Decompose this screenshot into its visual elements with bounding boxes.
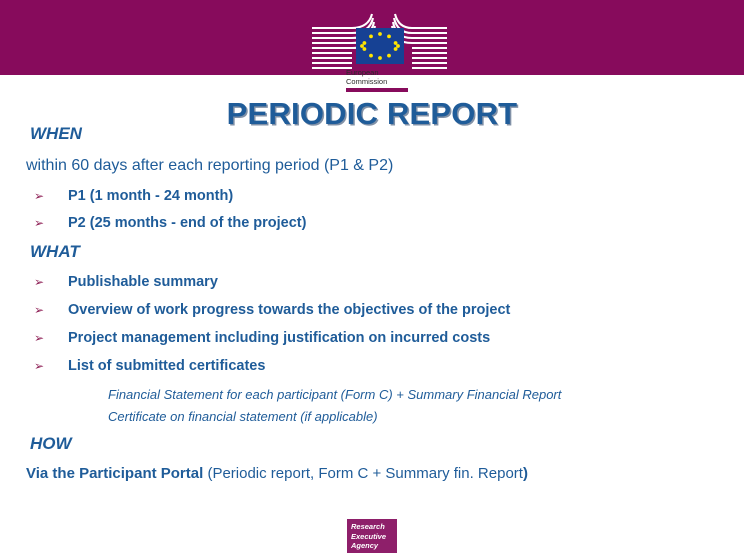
sub-list-item: Certificate on financial statement (if a… <box>108 409 744 424</box>
rea-logo-line1: Research <box>351 522 385 531</box>
ec-logo-label: European Commission <box>346 68 416 86</box>
arrow-bullet-icon: ➢ <box>34 275 68 289</box>
section-heading-how: HOW <box>30 434 744 454</box>
ec-logo-label-line2: Commission <box>346 77 387 86</box>
list-item-label: P2 (25 months - end of the project) <box>68 215 306 231</box>
list-item-label: Publishable summary <box>68 274 218 290</box>
list-item: ➢ P1 (1 month - 24 month) <box>34 188 744 204</box>
rea-logo-text: Research Executive Agency <box>351 522 386 551</box>
list-item: ➢ Overview of work progress towards the … <box>34 302 744 318</box>
sub-list-item: Financial Statement for each participant… <box>108 387 744 402</box>
list-item: ➢ Publishable summary <box>34 274 744 290</box>
how-line-bold-suffix: ) <box>523 465 528 482</box>
list-item: ➢ P2 (25 months - end of the project) <box>34 215 744 231</box>
list-item-label: Overview of work progress towards the ob… <box>68 302 510 318</box>
list-item: ➢ List of submitted certificates <box>34 358 744 374</box>
section-heading-what: WHAT <box>30 242 744 262</box>
list-item: ➢ Project management including justifica… <box>34 330 744 346</box>
list-item-label: Project management including justificati… <box>68 330 490 346</box>
when-intro-line: within 60 days after each reporting peri… <box>26 157 744 175</box>
arrow-bullet-icon: ➢ <box>34 359 68 373</box>
arrow-bullet-icon: ➢ <box>34 303 68 317</box>
eu-flag-icon <box>356 28 404 64</box>
how-line: Via the Participant Portal (Periodic rep… <box>26 465 744 482</box>
section-heading-when: WHEN <box>30 124 744 144</box>
eu-stars-icon <box>356 28 404 64</box>
arrow-bullet-icon: ➢ <box>34 331 68 345</box>
list-item-label: List of submitted certificates <box>68 358 265 374</box>
european-commission-logo: European Commission <box>312 6 447 94</box>
slide-content: WHEN within 60 days after each reporting… <box>0 124 744 482</box>
rea-logo-line2: Executive <box>351 532 386 541</box>
ec-logo-label-line1: European <box>346 68 379 77</box>
arrow-bullet-icon: ➢ <box>34 216 68 230</box>
how-line-regular: (Periodic report, Form C + Summary fin. … <box>207 465 523 482</box>
arrow-bullet-icon: ➢ <box>34 189 68 203</box>
ec-logo-underline <box>346 88 408 92</box>
research-executive-agency-logo: Research Executive Agency <box>347 519 397 553</box>
list-item-label: P1 (1 month - 24 month) <box>68 188 233 204</box>
how-line-bold-prefix: Via the Participant Portal <box>26 465 207 482</box>
rea-logo-line3: Agency <box>351 541 378 550</box>
